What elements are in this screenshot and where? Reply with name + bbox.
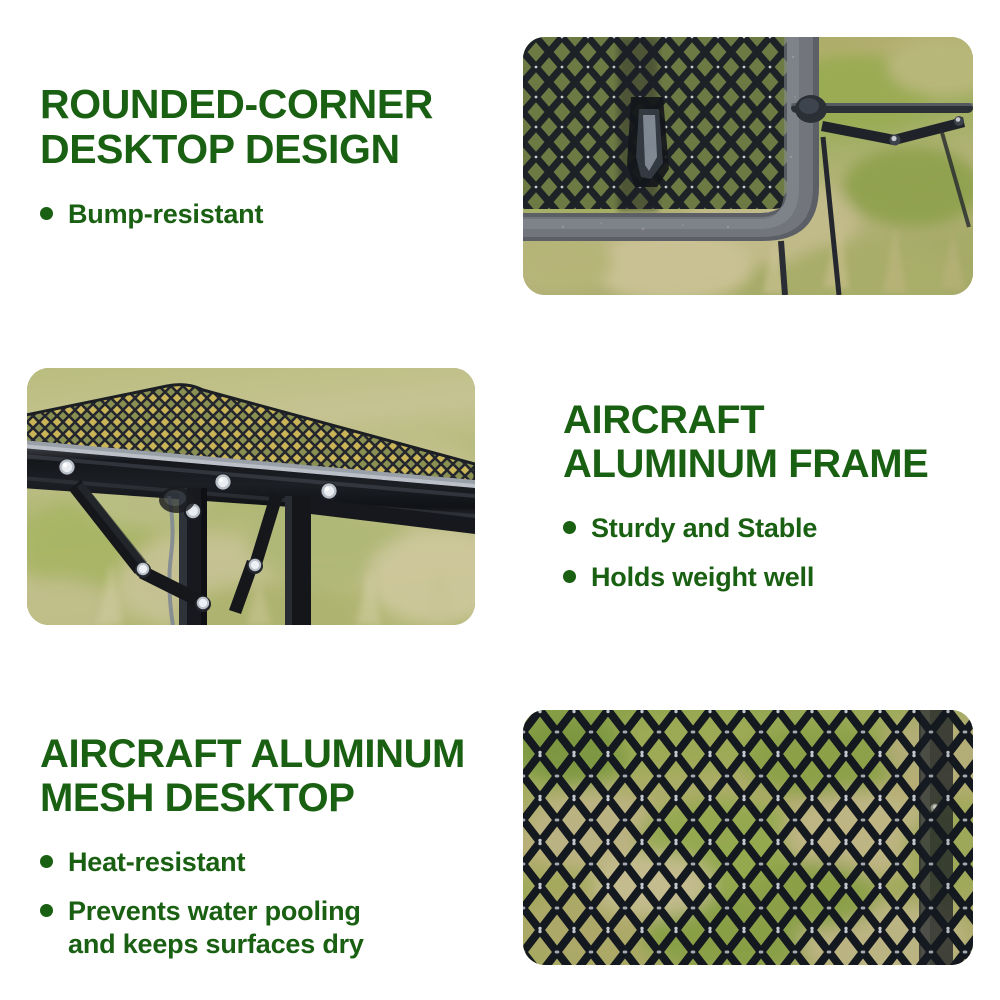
list-item: Bump-resistant [40,198,510,231]
bullet-dot-icon [40,904,53,917]
list-item: Sturdy and Stable [563,512,983,545]
mesh-closeup-photo [523,710,973,965]
table-rounded-corner-photo [523,37,973,295]
section-3-bullet-list: Heat-resistant Prevents water pooling an… [40,846,520,961]
bullet-dot-icon [40,855,53,868]
list-item: Heat-resistant [40,846,520,879]
section-rounded-corner-desktop-design-text: ROUNDED-CORNER DESKTOP DESIGN Bump-resis… [40,82,510,247]
table-rounded-corner-illustration [523,37,973,295]
mesh-closeup-illustration [523,710,973,965]
infographic-canvas: ROUNDED-CORNER DESKTOP DESIGN Bump-resis… [0,0,1000,1000]
section-aircraft-aluminum-frame-text: AIRCRAFT ALUMINUM FRAME Sturdy and Stabl… [563,398,983,610]
section-2-bullet-list: Sturdy and Stable Holds weight well [563,512,983,594]
section-aircraft-aluminum-mesh-desktop-text: AIRCRAFT ALUMINUM MESH DESKTOP Heat-resi… [40,732,520,977]
bullet-dot-icon [40,207,53,220]
section-2-heading: AIRCRAFT ALUMINUM FRAME [563,398,983,486]
section-2-bullet-0: Sturdy and Stable [591,512,817,545]
section-1-bullet-list: Bump-resistant [40,198,510,231]
bullet-dot-icon [563,521,576,534]
bullet-dot-icon [563,570,576,583]
section-3-bullet-1: Prevents water pooling and keeps surface… [68,895,364,961]
section-1-bullet-0: Bump-resistant [68,198,263,231]
list-item: Prevents water pooling and keeps surface… [40,895,520,961]
section-3-bullet-0: Heat-resistant [68,846,245,879]
table-frame-illustration [27,368,475,625]
section-1-heading: ROUNDED-CORNER DESKTOP DESIGN [40,82,510,172]
section-3-heading: AIRCRAFT ALUMINUM MESH DESKTOP [40,732,520,820]
section-2-bullet-1: Holds weight well [591,561,814,594]
table-frame-photo [27,368,475,625]
list-item: Holds weight well [563,561,983,594]
